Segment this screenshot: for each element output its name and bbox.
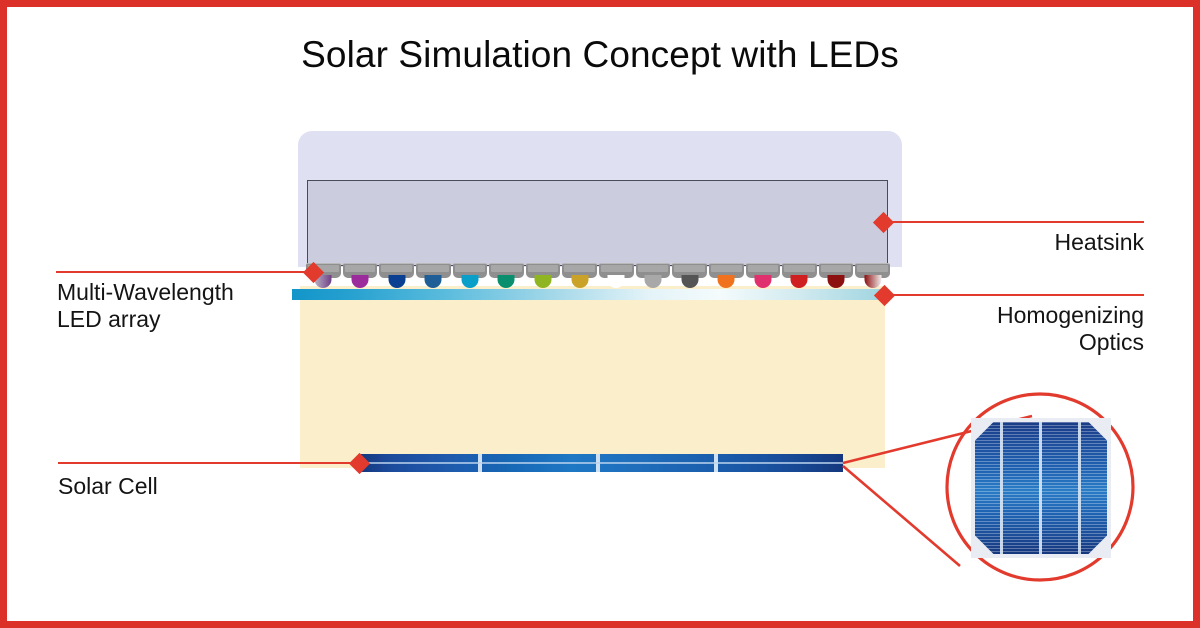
led-emitter-dome (388, 275, 405, 288)
callout-label-solar-cell: Solar Cell (58, 473, 358, 500)
led-dark-gray (671, 263, 708, 289)
led-emitter-dome (754, 275, 771, 288)
led-warm-gray (635, 263, 672, 289)
leader-line-solar-cell (58, 462, 364, 464)
magnifier-leader-lower (843, 466, 960, 566)
led-emitter-dome (461, 275, 478, 288)
homogenizing-optics-bar (292, 289, 886, 300)
led-emitter-dome (681, 275, 698, 288)
solar-cell-strip (360, 454, 843, 472)
magnified-solar-cell (971, 418, 1111, 558)
cell-busbar (1078, 422, 1081, 554)
led-emitter-dome (718, 275, 735, 288)
page-title: Solar Simulation Concept with LEDs (0, 34, 1200, 76)
led-red (781, 263, 818, 289)
light-beam (300, 286, 885, 468)
led-emitter-dome (498, 275, 515, 288)
heatsink-block (307, 180, 888, 266)
led-emitter-dome (535, 275, 552, 288)
leader-line-led-array (56, 271, 314, 273)
multi-wavelength-led-array (305, 263, 891, 289)
led-deep-red (818, 263, 855, 289)
cell-busbar (360, 462, 843, 464)
led-emitter-dome (571, 275, 588, 288)
leader-line-homogenizing-optics (893, 294, 1144, 296)
led-green (525, 263, 562, 289)
callout-label-led-array: Multi-Wavelength LED array (57, 279, 347, 332)
cell-busbar (1000, 422, 1003, 554)
led-emitter-dome (791, 275, 808, 288)
solar-cell-face (975, 422, 1107, 554)
led-blue (415, 263, 452, 289)
led-teal-green (488, 263, 525, 289)
led-emitter-dome (351, 275, 368, 288)
led-emitter-dome (864, 275, 881, 288)
led-violet (342, 263, 379, 289)
led-white (598, 263, 635, 289)
led-pink-magenta (745, 263, 782, 289)
leader-line-heatsink (890, 221, 1144, 223)
led-amber-yellow (561, 263, 598, 289)
led-deep-blue (378, 263, 415, 289)
diagram-canvas: Solar Simulation Concept with LEDs Heats… (0, 0, 1200, 628)
led-orange (708, 263, 745, 289)
led-emitter-dome (425, 275, 442, 288)
callout-label-homogenizing-optics: Homogenizing Optics (880, 302, 1144, 355)
led-emitter-dome (608, 275, 625, 288)
led-emitter-dome (644, 275, 661, 288)
led-emitter-dome (828, 275, 845, 288)
led-cyan (452, 263, 489, 289)
callout-label-heatsink: Heatsink (894, 229, 1144, 256)
cell-busbar (1039, 422, 1042, 554)
